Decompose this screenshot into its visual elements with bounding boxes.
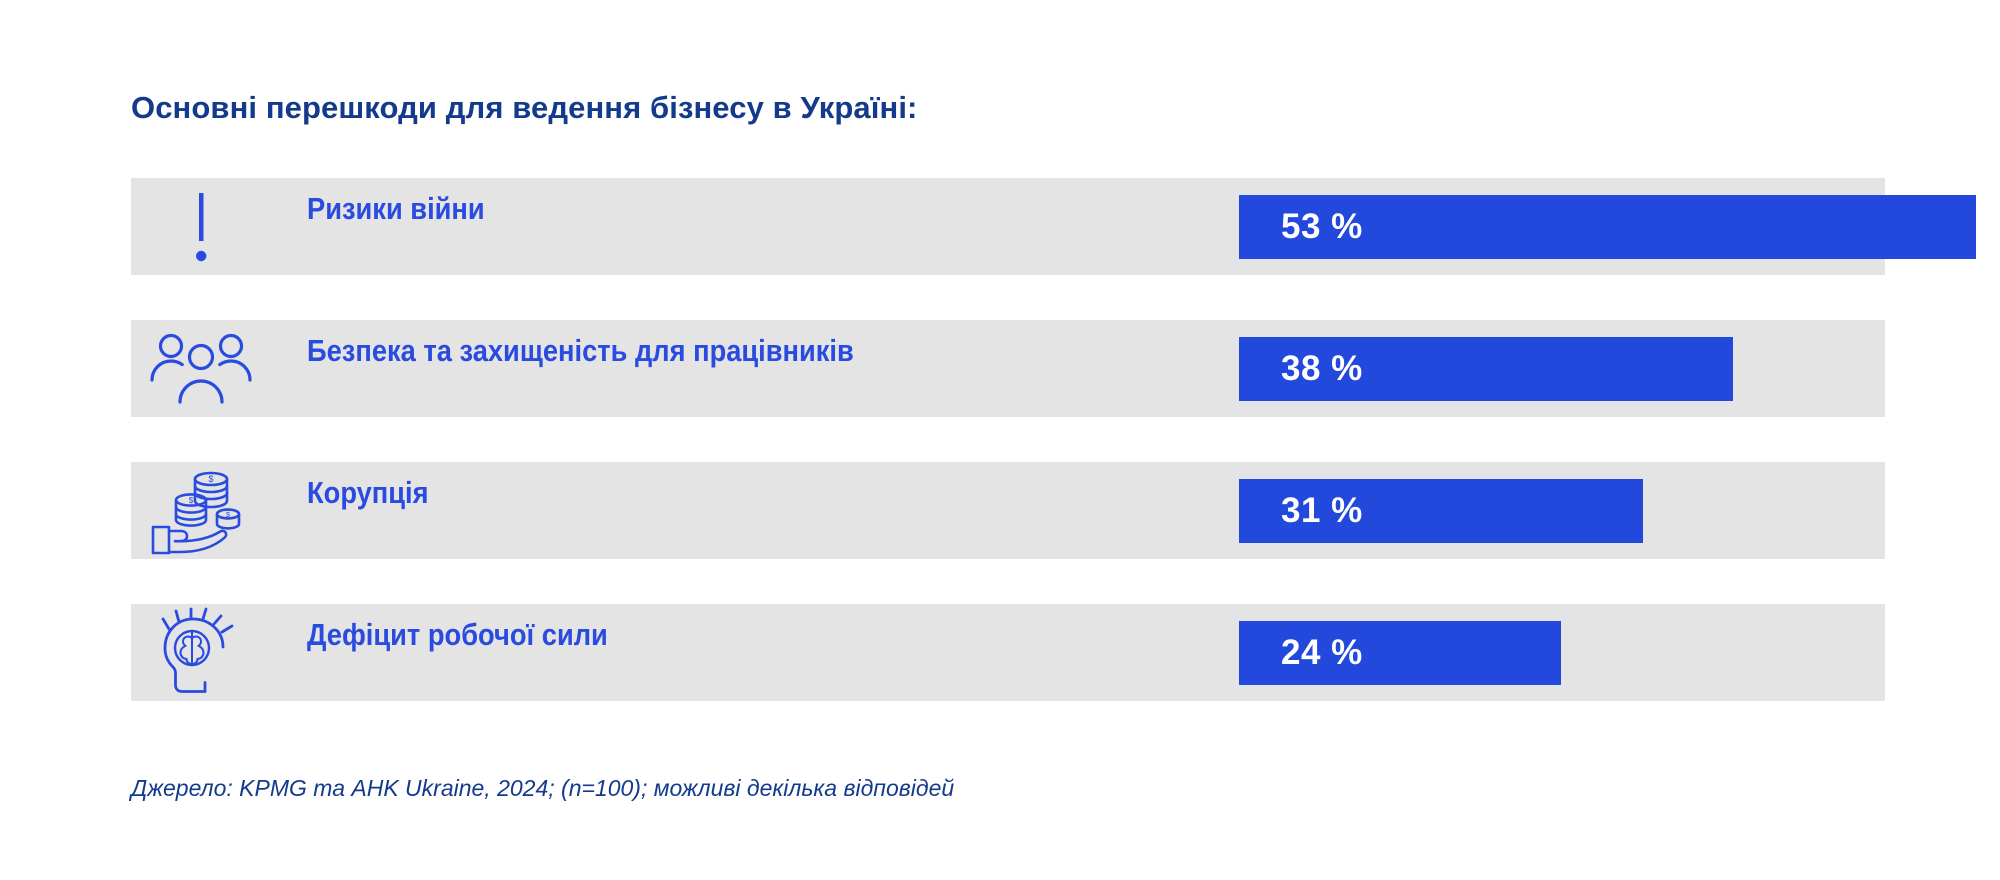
infographic-page: Основні перешкоди для ведення бізнесу в … — [0, 0, 2000, 880]
svg-text:$: $ — [226, 512, 230, 519]
bar-ryzyky-viyny: 53 % — [1239, 195, 1976, 259]
bar-bezpeka: 38 % — [1239, 337, 1733, 401]
svg-text:$: $ — [208, 474, 213, 484]
row-label: Корупція — [307, 493, 445, 529]
bar-koruptsiya: 31 % — [1239, 479, 1643, 543]
svg-text:$: $ — [189, 496, 194, 505]
row-label: Ризики війни — [307, 209, 509, 245]
exclamation-mark-icon — [146, 187, 256, 267]
head-with-brain-icon — [146, 613, 256, 693]
bar-value-label: 53 % — [1281, 207, 1363, 247]
table-row: Безпека та захищеність для працівників 3… — [131, 320, 1885, 417]
bar-value-label: 24 % — [1281, 633, 1363, 673]
table-row: $ $ $ Корупція 31 % — [131, 462, 1885, 559]
row-label: Безпека та захищеність для працівників — [307, 351, 928, 387]
table-row: Ризики війни 53 % — [131, 178, 1885, 275]
page-title: Основні перешкоди для ведення бізнесу в … — [131, 90, 917, 126]
table-row: Дефіцит робочої сили 24 % — [131, 604, 1885, 701]
hand-with-coins-icon: $ $ $ — [146, 471, 256, 551]
three-people-icon — [146, 329, 256, 409]
bar-value-label: 38 % — [1281, 349, 1363, 389]
bar-value-label: 31 % — [1281, 491, 1363, 531]
row-label: Дефіцит робочої сили — [307, 635, 649, 671]
source-note: Джерело: KPMG та AHK Ukraine, 2024; (n=1… — [131, 775, 954, 802]
bar-defitsyt-roboсhoi-syly: 24 % — [1239, 621, 1561, 685]
